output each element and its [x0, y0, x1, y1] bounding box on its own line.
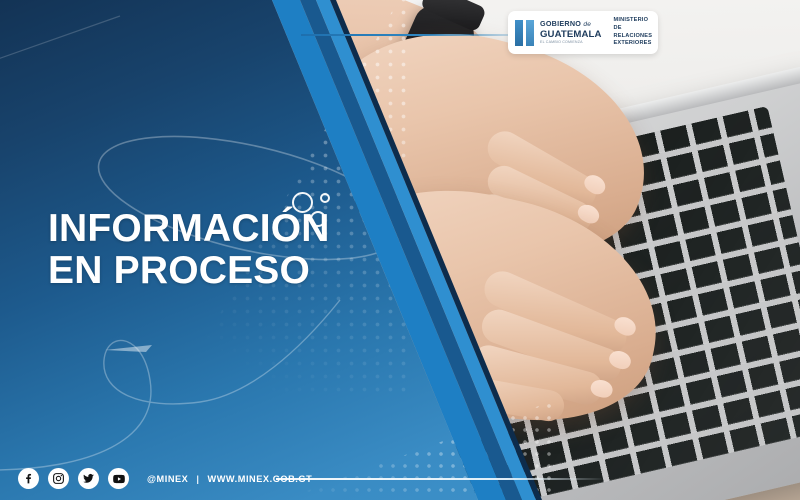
banner-graphic: INFORMACIÓN EN PROCESO GOBIERNO de GUATE… [0, 0, 800, 500]
footer-bar: @MINEX | WWW.MINEX.GOB.GT [0, 456, 560, 500]
logo-guatemala-text: GUATEMALA [540, 30, 601, 40]
headline-line-2: EN PROCESO [48, 250, 330, 292]
top-horizontal-rule [301, 34, 509, 36]
headline-line-1: INFORMACIÓN [48, 207, 330, 250]
social-handle[interactable]: @MINEX [147, 474, 188, 484]
circle-outline-medium [310, 211, 326, 227]
circle-outline-large [292, 192, 313, 213]
logo-de-text: de [583, 21, 591, 28]
youtube-icon[interactable] [108, 468, 129, 489]
social-links: @MINEX | WWW.MINEX.GOB.GT [18, 468, 312, 489]
ministry-line-1: MINISTERIO DE [613, 17, 652, 33]
government-logo: GOBIERNO de GUATEMALA EL CAMBIO COMIENZA… [508, 11, 658, 54]
logo-mark-icon [515, 20, 534, 46]
circle-outline-small [320, 193, 330, 203]
logo-tagline-text: EL CAMBIO COMIENZA [540, 41, 601, 45]
twitter-icon[interactable] [78, 468, 99, 489]
logo-gobierno-text: GOBIERNO [540, 19, 581, 28]
ministry-line-2: RELACIONES [613, 33, 652, 41]
instagram-icon[interactable] [48, 468, 69, 489]
ministry-line-3: EXTERIORES [613, 40, 652, 48]
facebook-icon[interactable] [18, 468, 39, 489]
footer-separator: | [196, 474, 199, 484]
page-title: INFORMACIÓN EN PROCESO [48, 208, 330, 292]
footer-rule [276, 478, 606, 481]
